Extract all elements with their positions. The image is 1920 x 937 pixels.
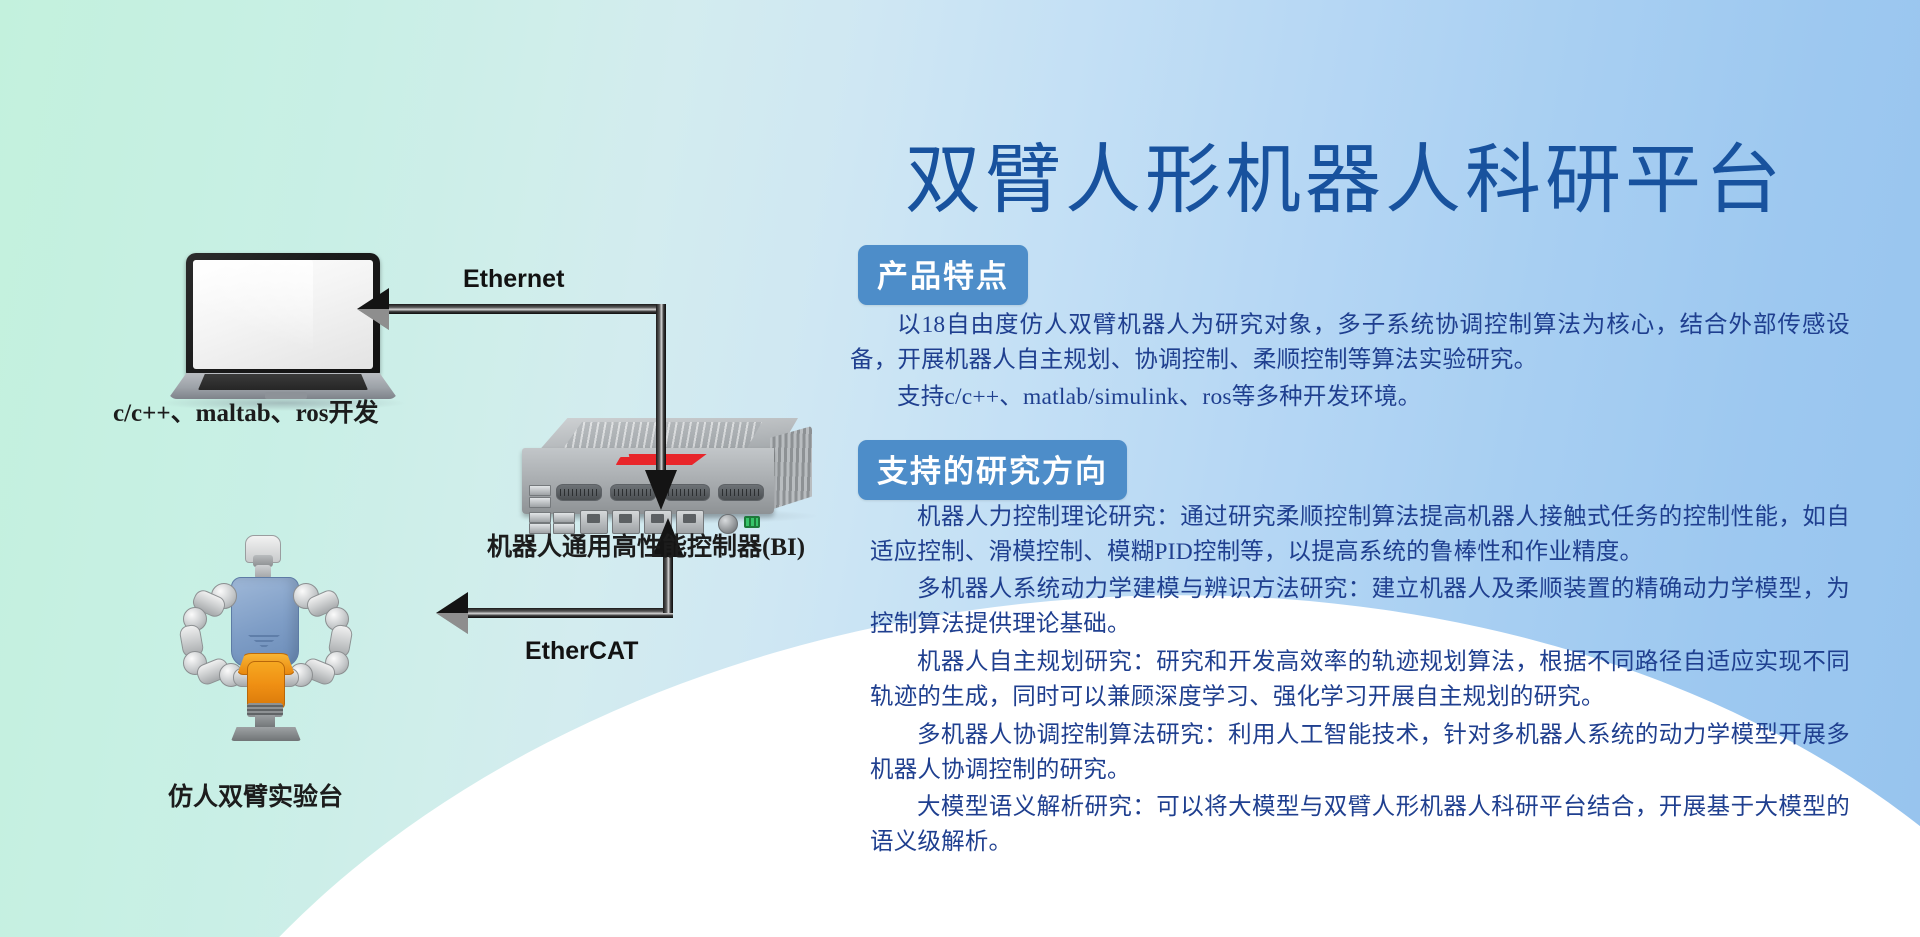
section-badge-research: 支持的研究方向 xyxy=(858,440,1127,500)
ethernet-link-label: Ethernet xyxy=(463,265,564,294)
ethernet-arrow xyxy=(357,288,677,510)
controller-label: 机器人通用高性能控制器(BI) xyxy=(487,527,805,563)
connection-arrows xyxy=(0,0,840,937)
features-paragraph-1: 以18自由度仿人双臂机器人为研究对象，多子系统协调控制算法为核心，结合外部传感设… xyxy=(850,308,1850,378)
robot-label: 仿人双臂实验台 xyxy=(168,777,343,813)
ethercat-link-label: EtherCAT xyxy=(525,637,638,666)
laptop-label: c/c++、maltab、ros开发 xyxy=(113,393,379,429)
section-badge-features: 产品特点 xyxy=(858,245,1028,305)
research-paragraph-2: 多机器人系统动力学建模与辨识方法研究：建立机器人及柔顺装置的精确动力学模型，为控… xyxy=(870,572,1850,642)
research-paragraph-5: 大模型语义解析研究：可以将大模型与双臂人形机器人科研平台结合，开展基于大模型的语… xyxy=(870,790,1850,860)
system-diagram: c/c++、maltab、ros开发 机器人通用高性能控制器(BI) 仿人双臂实… xyxy=(0,0,840,937)
poster-root: c/c++、maltab、ros开发 机器人通用高性能控制器(BI) 仿人双臂实… xyxy=(0,0,1920,937)
research-paragraph-3: 机器人自主规划研究：研究和开发高效率的轨迹规划算法，根据不同路径自适应实现不同轨… xyxy=(870,645,1850,715)
page-title: 双臂人形机器人科研平台 xyxy=(840,118,1850,228)
research-paragraph-4: 多机器人协调控制算法研究：利用人工智能技术，针对多机器人系统的动力学模型开展多机… xyxy=(870,718,1850,788)
features-paragraph-2: 支持c/c++、matlab/simulink、ros等多种开发环境。 xyxy=(850,380,1850,415)
research-paragraph-1: 机器人力控制理论研究：通过研究柔顺控制算法提高机器人接触式任务的控制性能，如自适… xyxy=(870,500,1850,570)
content-panel: 双臂人形机器人科研平台 产品特点 以18自由度仿人双臂机器人为研究对象，多子系统… xyxy=(840,0,1920,937)
